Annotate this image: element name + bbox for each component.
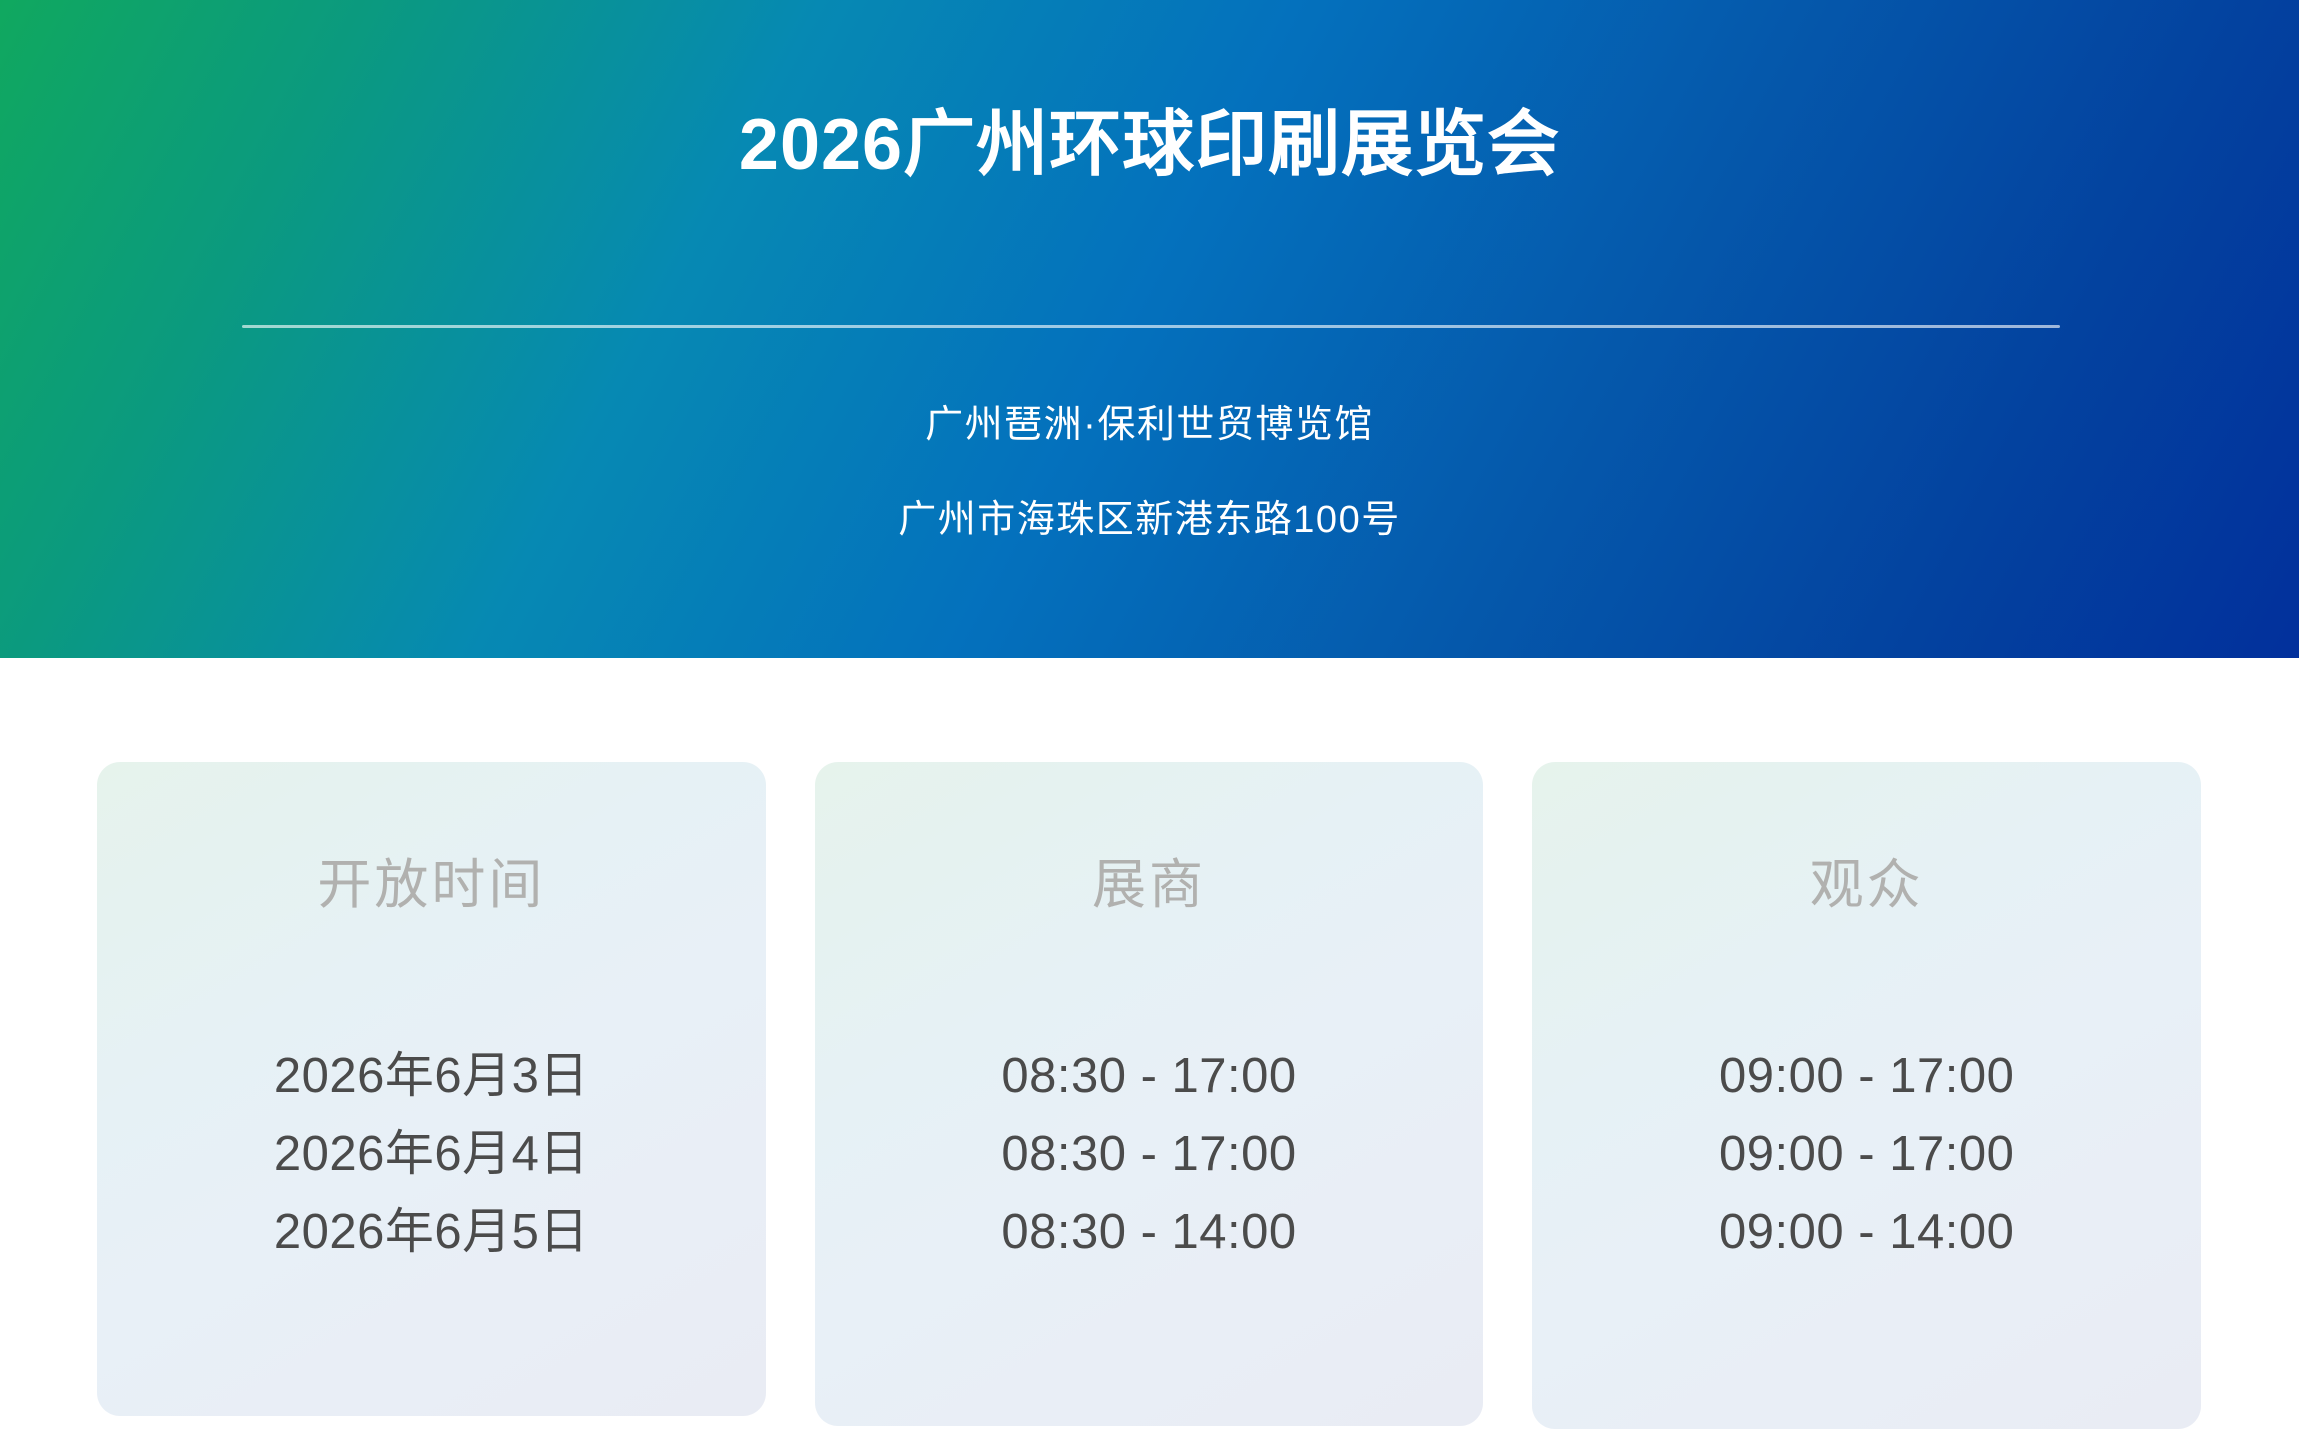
- list-item: 09:00 - 17:00: [1532, 1052, 2201, 1130]
- venue-address: 广州市海珠区新港东路100号: [0, 501, 2299, 539]
- venue-name: 广州琶洲·保利世贸博览馆: [0, 406, 2299, 444]
- list-item: 2026年6月5日: [97, 1208, 766, 1286]
- list-item: 2026年6月3日: [97, 1052, 766, 1130]
- card-rows-exhibitor-hours: 08:30 - 17:00 08:30 - 17:00 08:30 - 14:0…: [815, 1052, 1484, 1286]
- list-item: 09:00 - 14:00: [1532, 1208, 2201, 1286]
- venue-info: 广州琶洲·保利世贸博览馆 广州市海珠区新港东路100号: [0, 406, 2299, 539]
- list-item: 08:30 - 17:00: [815, 1130, 1484, 1208]
- banner-divider: [242, 325, 2060, 328]
- card-rows-opening-dates: 2026年6月3日 2026年6月4日 2026年6月5日: [97, 1052, 766, 1286]
- card-title-exhibitor: 展商: [815, 858, 1484, 912]
- exhibition-info-page: 2026广州环球印刷展览会 广州琶洲·保利世贸博览馆 广州市海珠区新港东路100…: [0, 0, 2299, 1429]
- page-title: 2026广州环球印刷展览会: [0, 104, 2299, 188]
- list-item: 08:30 - 14:00: [815, 1208, 1484, 1286]
- card-opening-dates: 开放时间 2026年6月3日 2026年6月4日 2026年6月5日: [97, 762, 766, 1416]
- card-title-visitor: 观众: [1532, 858, 2201, 912]
- card-rows-visitor-hours: 09:00 - 17:00 09:00 - 17:00 09:00 - 14:0…: [1532, 1052, 2201, 1286]
- card-title-opening-dates: 开放时间: [97, 858, 766, 912]
- event-banner: 2026广州环球印刷展览会 广州琶洲·保利世贸博览馆 广州市海珠区新港东路100…: [0, 0, 2299, 658]
- list-item: 09:00 - 17:00: [1532, 1130, 2201, 1208]
- card-visitor-hours: 观众 09:00 - 17:00 09:00 - 17:00 09:00 - 1…: [1532, 762, 2201, 1429]
- card-exhibitor-hours: 展商 08:30 - 17:00 08:30 - 17:00 08:30 - 1…: [815, 762, 1484, 1426]
- schedule-cards: 开放时间 2026年6月3日 2026年6月4日 2026年6月5日 展商 08…: [97, 762, 2201, 1429]
- list-item: 08:30 - 17:00: [815, 1052, 1484, 1130]
- list-item: 2026年6月4日: [97, 1130, 766, 1208]
